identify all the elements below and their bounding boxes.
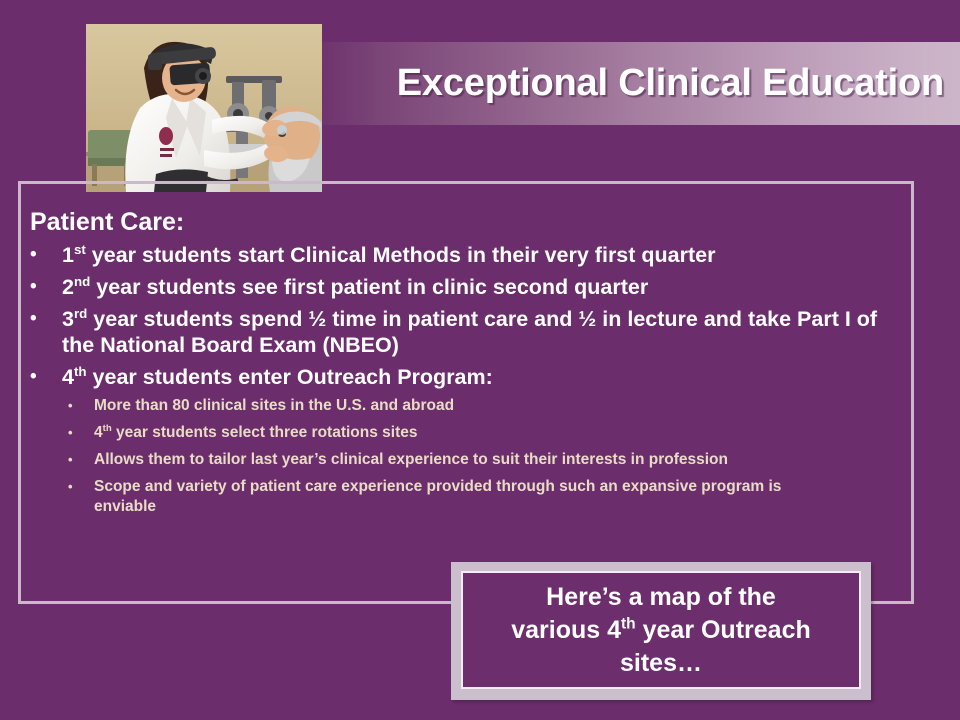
sub-bullet-body: Allows them to tailor last year’s clinic… [94,451,728,468]
bullet-item-4: • 4th year students enter Outreach Progr… [30,364,910,390]
callout-inner-panel: Here’s a map of the various 4th year Out… [461,571,861,689]
bullet-marker-icon: • [30,306,62,332]
ordinal-suffix: th [103,423,112,434]
ordinal-suffix: th [74,364,87,379]
bullet-body: year students see first patient in clini… [90,275,648,299]
ordinal-number: 1 [62,243,74,267]
ordinal-suffix: th [621,615,636,632]
ordinal-suffix: rd [74,306,87,321]
ordinal-number: 4 [62,365,74,389]
callout-text: Here’s a map of the various 4th year Out… [501,581,821,680]
bullet-marker-icon: • [30,364,62,390]
ordinal-number: 3 [62,307,74,331]
bullet-body: year students start Clinical Methods in … [86,243,716,267]
clinical-exam-illustration [86,24,322,192]
sub-bullet-text-4: Scope and variety of patient care experi… [94,477,834,517]
bullet-item-3: • 3rd year students spend ½ time in pati… [30,306,910,358]
bullet-text-1: 1st year students start Clinical Methods… [62,242,910,268]
ordinal-number: 2 [62,275,74,299]
sub-bullet-item-2: • 4th year students select three rotatio… [30,423,910,443]
content-body: Patient Care: • 1st year students start … [30,207,910,524]
bullet-marker-icon: • [30,274,62,300]
slide-canvas: Exceptional Clinical Education [0,0,960,720]
sub-bullet-item-1: • More than 80 clinical sites in the U.S… [30,396,910,416]
sub-bullet-text-2: 4th year students select three rotations… [94,423,834,443]
ordinal-suffix: nd [74,274,90,289]
sub-bullet-marker-icon: • [68,450,94,470]
bullet-marker-icon: • [30,242,62,268]
bullet-text-4: 4th year students enter Outreach Program… [62,364,910,390]
ordinal-suffix: st [74,242,86,257]
bullet-text-2: 2nd year students see first patient in c… [62,274,910,300]
sub-bullet-marker-icon: • [68,423,94,443]
callout-line-2-rest: year Outreach [636,616,811,644]
ordinal-number: 4 [94,424,103,441]
sub-bullet-marker-icon: • [68,396,94,416]
sub-bullet-body: year students select three rotations sit… [112,424,418,441]
callout-line-3: sites… [620,649,702,677]
sub-bullet-text-1: More than 80 clinical sites in the U.S. … [94,396,834,416]
sub-bullet-marker-icon: • [68,477,94,497]
clinical-exam-photo [86,24,322,192]
sub-bullet-item-3: • Allows them to tailor last year’s clin… [30,450,910,470]
bullet-item-2: • 2nd year students see first patient in… [30,274,910,300]
bullet-body: year students enter Outreach Program: [87,365,493,389]
content-heading: Patient Care: [30,207,910,237]
sub-bullet-body: Scope and variety of patient care experi… [94,478,781,515]
bullet-text-3: 3rd year students spend ½ time in patien… [62,306,910,358]
bullet-item-1: • 1st year students start Clinical Metho… [30,242,910,268]
callout-line-1: Here’s a map of the [546,583,776,611]
sub-bullet-text-3: Allows them to tailor last year’s clinic… [94,450,834,470]
bullet-body: year students spend ½ time in patient ca… [62,307,877,357]
callout-line-2-prefix: various 4 [511,616,621,644]
sub-bullet-body: More than 80 clinical sites in the U.S. … [94,397,454,414]
callout-box: Here’s a map of the various 4th year Out… [451,562,871,700]
sub-bullet-item-4: • Scope and variety of patient care expe… [30,477,910,517]
page-title: Exceptional Clinical Education [300,42,952,125]
